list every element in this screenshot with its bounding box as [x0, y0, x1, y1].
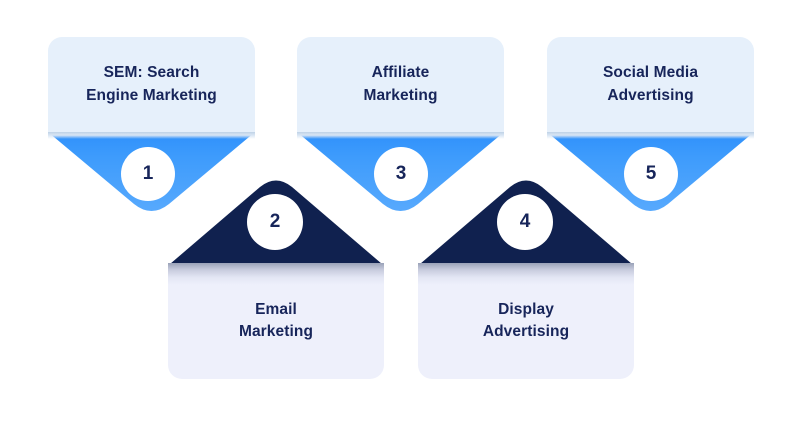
step-2-card: Email Marketing [168, 263, 384, 379]
step-5-number-badge: 5 [624, 147, 678, 201]
step-1-number: 1 [143, 163, 154, 185]
step-4-number-badge: 4 [497, 194, 553, 250]
step-3-number-badge: 3 [374, 147, 428, 201]
step-5-card: Social Media Advertising [547, 37, 754, 132]
step-1-card: SEM: Search Engine Marketing [48, 37, 255, 132]
step-1-label: SEM: Search Engine Marketing [74, 62, 229, 107]
step-2-number: 2 [270, 211, 281, 233]
step-3-number: 3 [396, 163, 407, 185]
step-5-number: 5 [646, 163, 657, 185]
step-2-number-badge: 2 [247, 194, 303, 250]
step-2-label: Email Marketing [227, 299, 325, 344]
infographic-canvas: SEM: Search Engine Marketing 1 Email Mar… [0, 0, 800, 421]
step-1-number-badge: 1 [121, 147, 175, 201]
step-5-label: Social Media Advertising [591, 62, 710, 107]
step-4-number: 4 [520, 211, 531, 233]
step-3-label: Affiliate Marketing [351, 62, 449, 107]
step-4-label: Display Advertising [471, 299, 581, 344]
step-3-card: Affiliate Marketing [297, 37, 504, 132]
step-4-card: Display Advertising [418, 263, 634, 379]
